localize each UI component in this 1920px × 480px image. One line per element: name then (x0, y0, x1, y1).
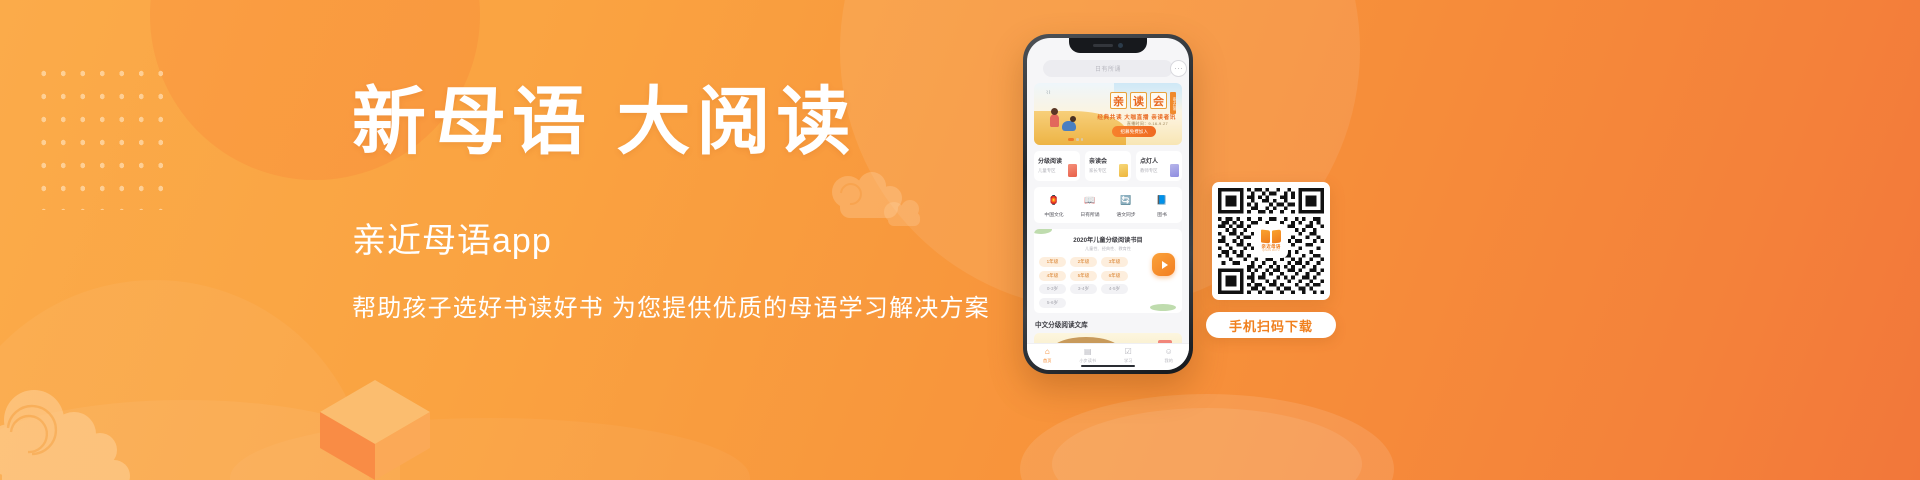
grade-card-subtitle: 儿童性、经典性、教育性 (1039, 246, 1177, 252)
user-icon: ☺ (1149, 347, 1190, 357)
quick-link-label: 日有所诵 (1072, 211, 1108, 218)
books-icon: 📘 (1155, 193, 1170, 208)
leaf-decoration-bottom (1150, 304, 1176, 311)
tab-label: 学习 (1108, 358, 1149, 364)
library-arc-illustration (1050, 337, 1122, 344)
search-input[interactable]: 日有所诵 (1043, 60, 1173, 77)
qr-code: 亲近母语 QINJIN MUYU (1218, 188, 1324, 294)
category-card-graded-reading[interactable]: 分级阅读 儿童专区 (1034, 151, 1080, 181)
book-icon (1119, 164, 1128, 177)
quick-link-label: 语文同步 (1108, 211, 1144, 218)
grade-chip[interactable]: 2年级 (1070, 257, 1097, 267)
sync-icon: 🔄 (1119, 193, 1134, 208)
app-name-subtitle: 亲近母语app (352, 213, 1012, 262)
auspicious-cloud-icon (0, 376, 178, 480)
lantern-icon: 🏮 (1047, 193, 1062, 208)
tagline: 帮助孩子选好书读好书 为您提供优质的母语学习解决方案 (352, 288, 1012, 323)
scan-to-download-button[interactable]: 手机扫码下载 (1206, 312, 1336, 338)
phone-content: ⌇⌇ 亲 读 会 亲子共读 经典共读 大咖直播 亲读者讯 直播时间：9.16-9… (1027, 83, 1189, 343)
phone-mockup: 日有所诵 ⌇⌇ 亲 读 会 亲子共读 经典 (1023, 34, 1193, 374)
quick-link-label: 中国文化 (1036, 211, 1072, 218)
promo-subtitle: 经典共读 大咖直播 亲读者讯 (1097, 113, 1176, 121)
birds-icon: ⌇⌇ (1046, 90, 1051, 96)
tab-study[interactable]: ☑ 学习 (1108, 347, 1149, 364)
age-chip[interactable]: 0-3岁 (1039, 284, 1066, 294)
category-card-parent-club[interactable]: 亲读会 家长专区 (1085, 151, 1131, 181)
qr-center-logo: 亲近母语 QINJIN MUYU (1256, 226, 1286, 256)
promo-title-char-1: 亲 (1110, 92, 1127, 109)
dot-grid-decoration (34, 62, 172, 210)
phone-pedestal-shadow (1020, 394, 1394, 480)
age-chip[interactable]: 5-6岁 (1039, 298, 1066, 308)
book-open-icon: 📖 (1083, 193, 1098, 208)
quick-link-sync-lessons[interactable]: 🔄 语文同步 (1108, 193, 1144, 218)
phone-pedestal-shadow-inner (1052, 408, 1362, 480)
age-chip[interactable]: 3-4岁 (1070, 284, 1097, 294)
phone-notch (1069, 38, 1147, 53)
library-section-title: 中文分级阅读文库 (1035, 319, 1182, 329)
tab-home[interactable]: ⌂ 首页 (1027, 347, 1068, 364)
leaf-decoration (1034, 229, 1052, 234)
promo-cta-button[interactable]: 招募免费加入 (1112, 126, 1156, 137)
list-icon: ▤ (1068, 347, 1109, 357)
child-illustration-2 (1062, 121, 1076, 131)
qr-code-card: 亲近母语 QINJIN MUYU (1212, 182, 1330, 300)
promo-card[interactable]: ⌇⌇ 亲 读 会 亲子共读 经典共读 大咖直播 亲读者讯 直播时间：9.16-9… (1034, 83, 1182, 145)
play-video-button[interactable] (1152, 253, 1175, 276)
more-options-icon[interactable] (1170, 60, 1187, 77)
book-icon (1170, 164, 1179, 177)
grade-chip[interactable]: 5年级 (1070, 271, 1097, 281)
carousel-pager[interactable] (1068, 138, 1083, 141)
copy-block: 新母语 大阅读 亲近母语app 帮助孩子选好书读好书 为您提供优质的母语学习解决… (352, 86, 1012, 323)
grade-card-title: 2020年儿童分级阅读书目 (1039, 235, 1177, 244)
promo-title-char-3: 会 (1150, 92, 1167, 109)
tab-label: 小步读书 (1068, 358, 1109, 364)
promo-title-char-2: 读 (1130, 92, 1147, 109)
promo-side-band: 亲子共读 (1170, 92, 1176, 114)
age-chip[interactable]: 4-5岁 (1101, 284, 1128, 294)
promo-banner: 新母语 大阅读 亲近母语app 帮助孩子选好书读好书 为您提供优质的母语学习解决… (0, 0, 1920, 480)
category-card-row: 分级阅读 儿童专区 亲读会 家长专区 点灯人 教师专区 (1034, 151, 1182, 181)
search-placeholder: 日有所诵 (1095, 64, 1121, 73)
hill-decoration-left (0, 400, 400, 480)
grade-booklist-card: 2020年儿童分级阅读书目 儿童性、经典性、教育性 1年级 2年级 3年级 4年… (1034, 229, 1182, 313)
category-card-teacher[interactable]: 点灯人 教师专区 (1136, 151, 1182, 181)
circle-decoration-bottom-left (0, 280, 370, 480)
grade-chip[interactable]: 3年级 (1101, 257, 1128, 267)
tab-label: 我的 (1149, 358, 1190, 364)
quick-link-books[interactable]: 📘 图书 (1144, 193, 1180, 218)
isometric-cube-decoration (316, 376, 434, 480)
promo-title-row: 亲 读 会 亲子共读 (1110, 92, 1176, 114)
quick-links-row: 🏮 中国文化 📖 日有所诵 🔄 语文同步 📘 图书 (1034, 187, 1182, 223)
grade-chip[interactable]: 1年级 (1039, 257, 1066, 267)
home-icon: ⌂ (1027, 347, 1068, 357)
hill-decoration-center (230, 418, 750, 480)
quick-link-chinese-culture[interactable]: 🏮 中国文化 (1036, 193, 1072, 218)
library-card[interactable] (1034, 333, 1182, 344)
tab-profile[interactable]: ☺ 我的 (1149, 347, 1190, 364)
child-illustration-1 (1050, 114, 1059, 127)
grade-chip[interactable]: 4年级 (1039, 271, 1066, 281)
grade-chip-list: 1年级 2年级 3年级 4年级 5年级 6年级 0-3岁 3-4岁 4-5岁 5… (1039, 257, 1157, 308)
tab-label: 首页 (1027, 358, 1068, 364)
logo-name-en: QINJIN MUYU (1262, 250, 1279, 252)
book-logo-icon (1261, 230, 1281, 243)
book-icon (1068, 164, 1077, 177)
tab-reading[interactable]: ▤ 小步读书 (1068, 347, 1109, 364)
page-title: 新母语 大阅读 (352, 86, 1012, 161)
quick-link-label: 图书 (1144, 211, 1180, 218)
grade-chip[interactable]: 6年级 (1101, 271, 1128, 281)
quick-link-daily-recitation[interactable]: 📖 日有所诵 (1072, 193, 1108, 218)
library-book-illustration (1158, 340, 1172, 344)
checklist-icon: ☑ (1108, 347, 1149, 357)
home-indicator (1081, 365, 1135, 368)
